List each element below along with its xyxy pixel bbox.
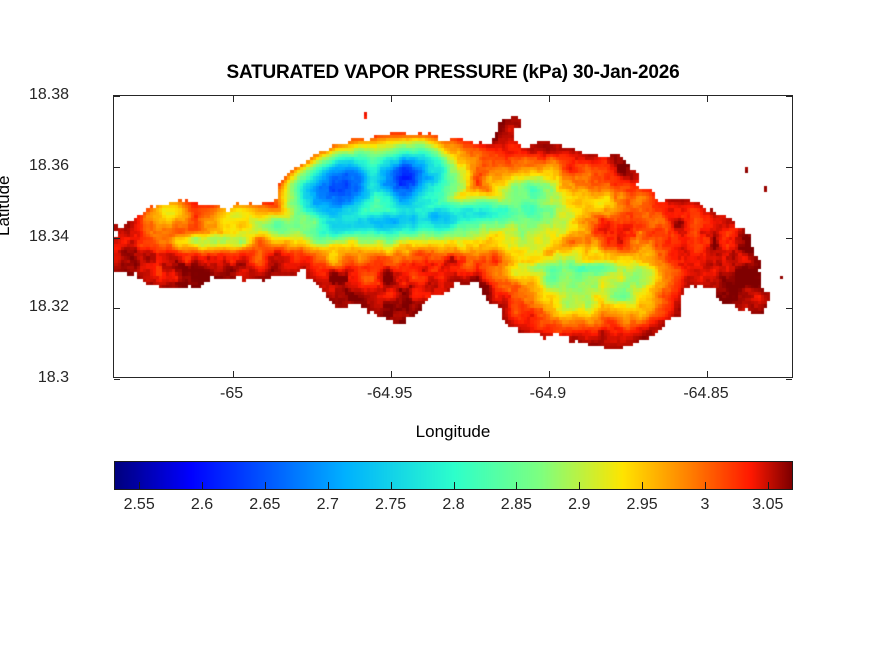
- colorbar-tick-mark: [202, 482, 203, 490]
- colorbar-tick-mark: [265, 482, 266, 490]
- colorbar-tick-label: 2.55: [124, 496, 155, 514]
- y-tick-mark: [786, 167, 792, 168]
- x-tick-mark: [233, 96, 234, 102]
- colorbar-tick-label: 2.85: [501, 496, 532, 514]
- colorbar-tick-mark: [516, 482, 517, 490]
- x-tick-label: -64.95: [367, 385, 412, 403]
- y-tick-label: 18.36: [29, 157, 69, 175]
- x-tick-mark: [391, 371, 392, 377]
- colorbar-tick-label: 2.75: [375, 496, 406, 514]
- colorbar-tick-label: 2.9: [568, 496, 590, 514]
- colorbar-tick-label: 2.95: [627, 496, 658, 514]
- colorbar-tick-label: 2.6: [191, 496, 213, 514]
- colorbar-tick-label: 2.8: [442, 496, 464, 514]
- x-tick-label: -65: [220, 385, 243, 403]
- colorbar-tick-mark: [328, 482, 329, 490]
- y-tick-mark: [786, 379, 792, 380]
- y-tick-label: 18.34: [29, 228, 69, 246]
- colorbar-tick-mark: [768, 482, 769, 490]
- map-axes: [113, 95, 793, 378]
- y-tick-mark: [786, 308, 792, 309]
- colorbar-tick-mark: [642, 482, 643, 490]
- figure-canvas: SATURATED VAPOR PRESSURE (kPa) 30-Jan-20…: [0, 0, 875, 656]
- colorbar-tick-mark: [454, 482, 455, 490]
- y-tick-mark: [786, 238, 792, 239]
- x-tick-label: -64.85: [683, 385, 728, 403]
- y-tick-mark: [114, 96, 120, 97]
- y-axis-label: Latitude: [0, 176, 14, 237]
- colorbar-tick-mark: [579, 482, 580, 490]
- colorbar-tick-label: 2.65: [249, 496, 280, 514]
- y-tick-mark: [786, 96, 792, 97]
- x-tick-mark: [549, 96, 550, 102]
- y-tick-label: 18.38: [29, 86, 69, 104]
- colorbar-tick-label: 3: [701, 496, 710, 514]
- colorbar-tick-label: 3.05: [752, 496, 783, 514]
- y-tick-label: 18.32: [29, 298, 69, 316]
- x-axis-label: Longitude: [113, 422, 793, 442]
- x-tick-mark: [549, 371, 550, 377]
- y-tick-mark: [114, 308, 120, 309]
- x-tick-mark: [391, 96, 392, 102]
- x-tick-mark: [707, 96, 708, 102]
- y-tick-mark: [114, 379, 120, 380]
- x-tick-mark: [233, 371, 234, 377]
- y-tick-label: 18.3: [38, 369, 69, 387]
- x-tick-label: -64.9: [530, 385, 566, 403]
- colorbar-tick-label: 2.7: [317, 496, 339, 514]
- colorbar-tick-mark: [391, 482, 392, 490]
- colorbar: [114, 461, 793, 490]
- y-tick-mark: [114, 167, 120, 168]
- y-tick-mark: [114, 238, 120, 239]
- page-title: SATURATED VAPOR PRESSURE (kPa) 30-Jan-20…: [113, 62, 793, 84]
- colorbar-tick-mark: [139, 482, 140, 490]
- heatmap-image: [114, 96, 792, 377]
- x-tick-mark: [707, 371, 708, 377]
- colorbar-tick-mark: [705, 482, 706, 490]
